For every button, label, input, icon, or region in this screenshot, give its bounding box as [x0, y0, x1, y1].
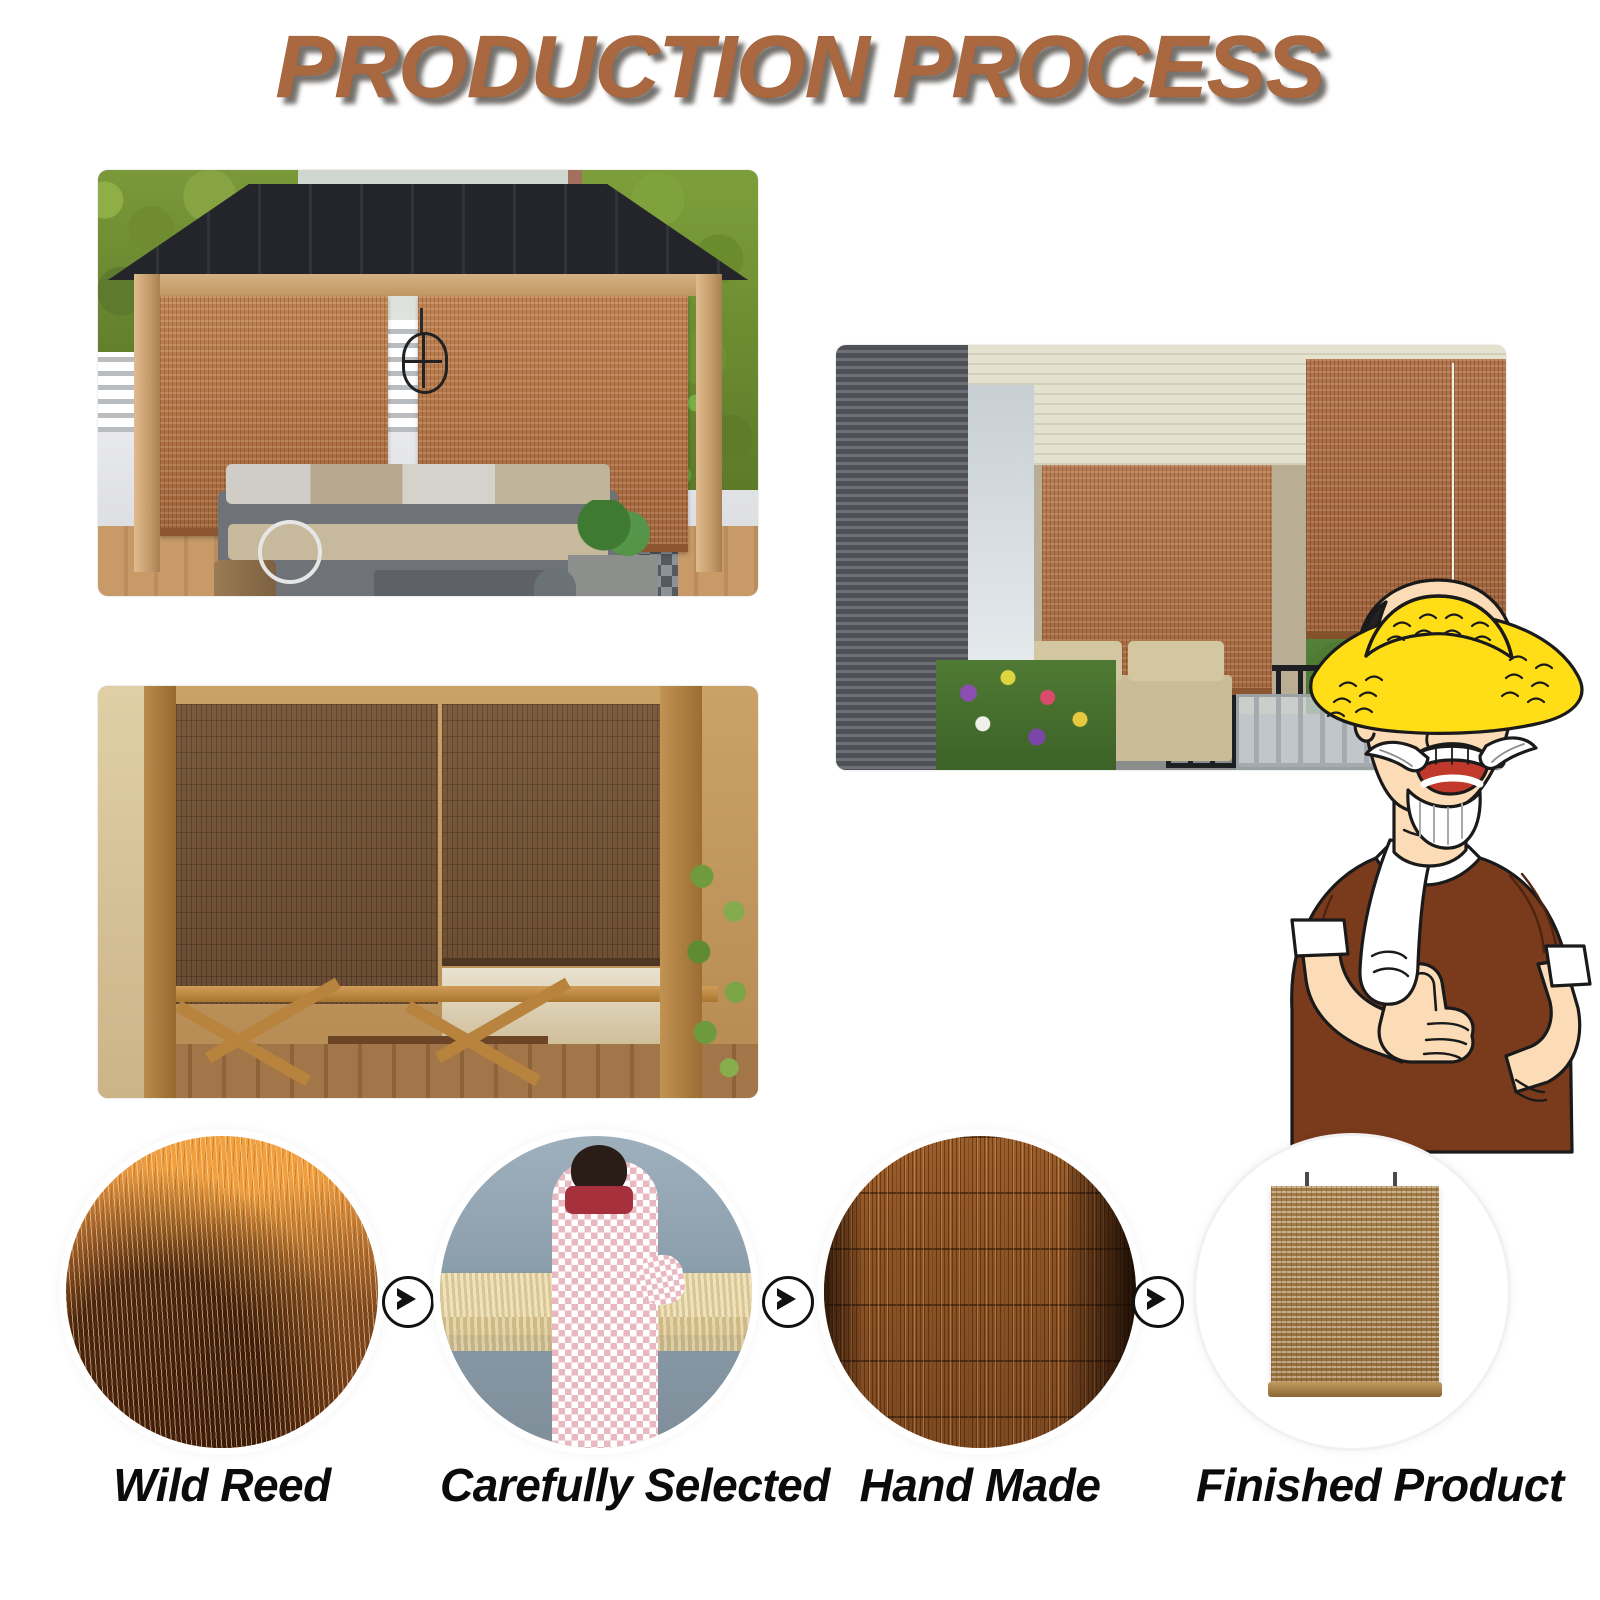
process-step-label: Finished Product	[1196, 1458, 1508, 1512]
potted-plant	[568, 500, 658, 596]
gazebo-post-right	[696, 274, 722, 572]
finished-reed-blind	[1271, 1186, 1439, 1386]
page-title: PRODUCTION PROCESS	[0, 16, 1600, 118]
chevron-right-in-circle-icon	[762, 1276, 814, 1328]
gazebo-scene	[98, 170, 758, 596]
smiling-farmer-thumbs-up-mascot	[1180, 540, 1600, 1160]
chevron-right-in-circle-icon	[382, 1276, 434, 1328]
process-step-1[interactable]: Wild Reed	[66, 1136, 378, 1448]
gazebo-header-beam	[134, 274, 722, 296]
bamboo-blind-left	[176, 704, 438, 1004]
blind-bottom-rail	[1268, 1382, 1443, 1396]
worker-scarf	[565, 1186, 634, 1214]
process-step-4[interactable]: Finished Product	[1196, 1136, 1508, 1448]
decorative-orb	[258, 520, 322, 584]
finished-blind-scene	[1196, 1136, 1508, 1448]
raw-reed-texture	[66, 1136, 378, 1448]
process-step-2[interactable]: Carefully Selected	[440, 1136, 752, 1448]
step-image-wild-reed	[66, 1136, 378, 1448]
infographic-canvas: PRODUCTION PROCESS	[0, 0, 1600, 1600]
woven-reed-mat-texture	[824, 1136, 1136, 1448]
gazebo-post-left	[134, 274, 160, 572]
process-step-3[interactable]: Hand Made	[824, 1136, 1136, 1448]
pendant-chandelier	[394, 308, 448, 394]
process-step-label: Wild Reed	[66, 1458, 378, 1512]
gallery-photo-veranda[interactable]	[98, 686, 758, 1098]
veranda-scene	[98, 686, 758, 1098]
veranda-post-left	[144, 686, 176, 1098]
gallery-photo-gazebo[interactable]	[98, 170, 758, 596]
process-step-label: Hand Made	[824, 1458, 1136, 1512]
step-image-hand-made	[824, 1136, 1136, 1448]
process-step-label: Carefully Selected	[440, 1458, 752, 1512]
sorting-scene	[440, 1136, 752, 1448]
timber-railing	[158, 986, 718, 1086]
chevron-right-in-circle-icon	[1132, 1276, 1184, 1328]
step-image-finished-product	[1196, 1136, 1508, 1448]
step-image-carefully-selected	[440, 1136, 752, 1448]
sliding-glass-door	[968, 385, 1034, 680]
flower-planter	[936, 660, 1116, 770]
mounting-hook	[1393, 1172, 1397, 1186]
bamboo-blind-right	[442, 704, 696, 966]
climbing-vine	[678, 846, 758, 1098]
mounting-hook	[1305, 1172, 1309, 1186]
